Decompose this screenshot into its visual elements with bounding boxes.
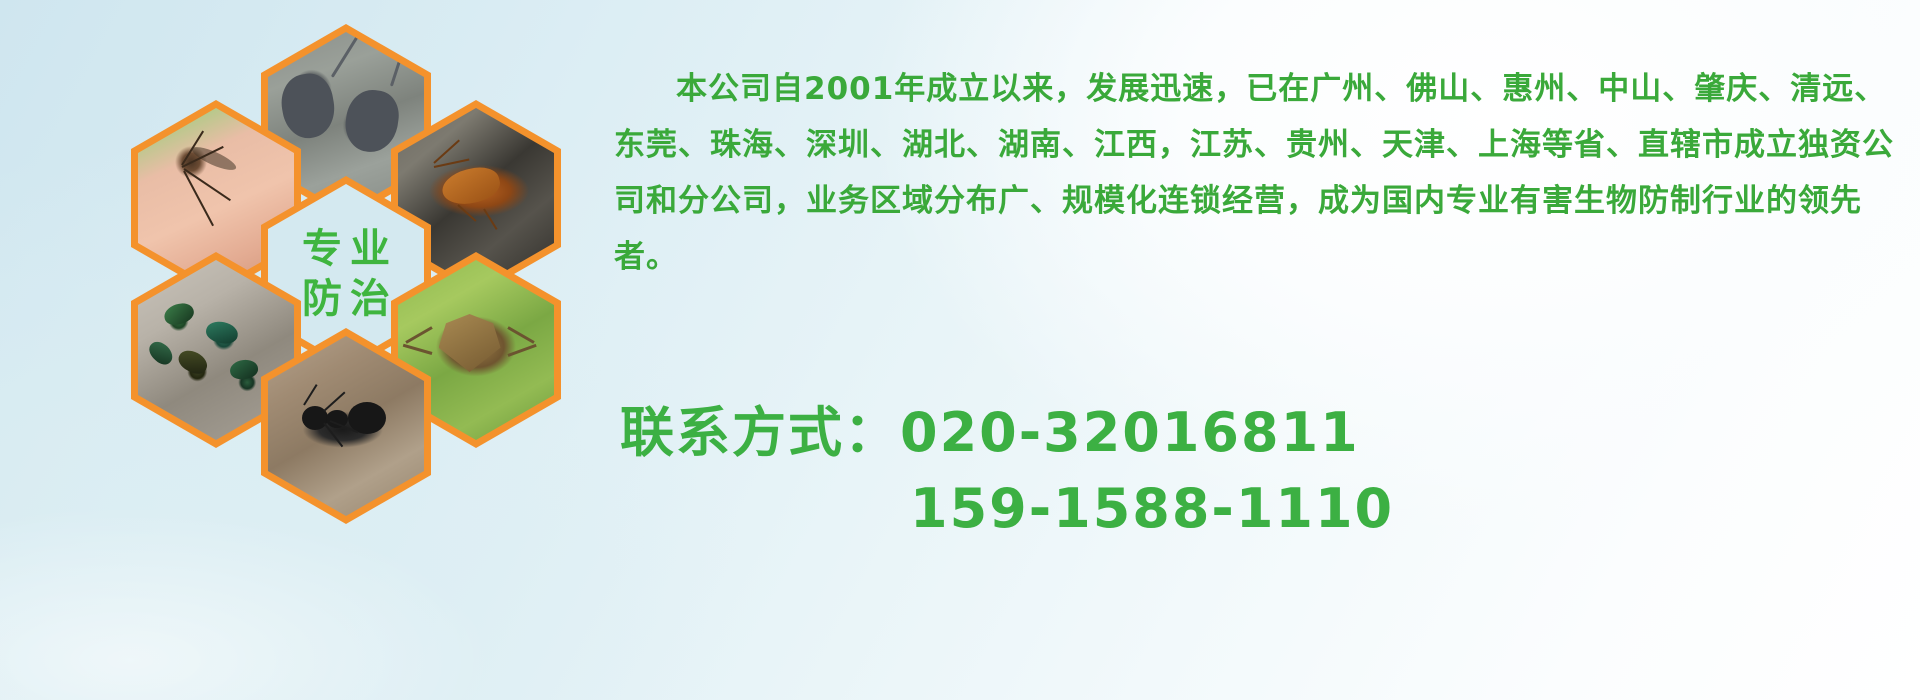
rat-tail-icon [331, 32, 365, 78]
fly-body-icon [145, 337, 176, 368]
pest-control-banner: 专业 防治 [0, 0, 1920, 700]
slogan-line-2: 防治 [294, 279, 398, 319]
stink-bug-leg-icon [403, 344, 433, 355]
ant-leg-icon [323, 392, 345, 412]
ant-image [268, 336, 424, 516]
rat-body-icon [277, 70, 339, 142]
cockroach-body-icon [438, 163, 503, 210]
fly-body-icon [162, 300, 197, 328]
stink-bug-leg-icon [507, 344, 536, 357]
contact-block: 联系方式：020-32016811 159-1588-1110 [620, 395, 1910, 547]
fly-body-icon [229, 358, 259, 381]
stink-bug-body-icon [439, 314, 501, 372]
cockroach-antenna-icon [434, 159, 470, 168]
contact-landline[interactable]: 联系方式：020-32016811 [620, 395, 1910, 471]
ant-antenna-icon [303, 384, 317, 405]
hex-cell-ant-photo [268, 336, 424, 516]
cockroach-leg-icon [483, 208, 497, 229]
fly-body-icon [204, 319, 240, 346]
company-intro-paragraph: 本公司自2001年成立以来，发展迅速，已在广州、佛山、惠州、中山、肇庆、清远、东… [614, 61, 1914, 285]
hex-photo-cluster: 专业 防治 [75, 0, 595, 600]
contact-mobile[interactable]: 159-1588-1110 [620, 471, 1910, 547]
cockroach-leg-icon [457, 204, 476, 222]
cockroach-antenna-icon [433, 140, 460, 164]
fly-body-icon [175, 346, 211, 378]
rat-body-icon [342, 87, 402, 156]
company-intro-block: 本公司自2001年成立以来，发展迅速，已在广州、佛山、惠州、中山、肇庆、清远、东… [614, 30, 1914, 316]
rat-tail-icon [390, 32, 410, 86]
stink-bug-leg-icon [405, 326, 432, 344]
stink-bug-leg-icon [507, 326, 534, 344]
slogan-line-1: 专业 [294, 229, 398, 269]
